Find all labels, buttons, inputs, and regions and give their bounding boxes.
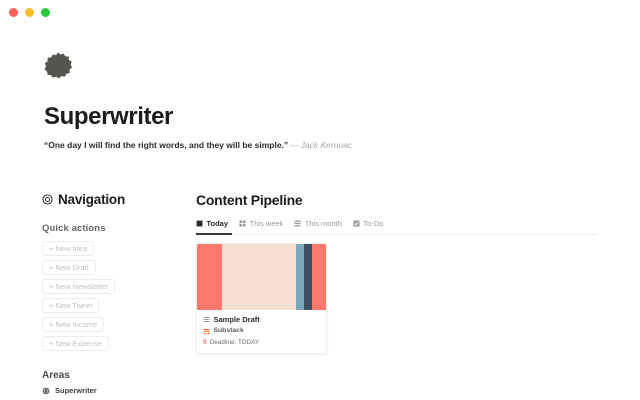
- tab-label: Today: [207, 220, 229, 228]
- card-source-row: Substack: [203, 328, 320, 335]
- tab-this-month[interactable]: This month: [294, 220, 342, 229]
- target-ring-icon: [42, 194, 53, 205]
- cover-band: [304, 244, 312, 310]
- quick-action-new-draft[interactable]: + New Draft: [42, 260, 96, 275]
- card-source: Substack: [214, 328, 244, 335]
- quick-action-new-income[interactable]: + New Income: [42, 317, 104, 332]
- card-body: Sample Draft Substack !! Deadline: TODAY: [197, 310, 326, 354]
- page-title: Superwriter: [44, 104, 352, 130]
- hero-quote: “One day I will find the right words, an…: [44, 140, 352, 150]
- document-icon: [203, 316, 210, 323]
- main-panel: Content Pipeline Today This week: [196, 192, 600, 354]
- cover-band: [296, 244, 304, 310]
- quote-dash: —: [288, 140, 301, 150]
- card-title-row: Sample Draft: [203, 316, 320, 324]
- tab-today[interactable]: Today: [196, 220, 228, 229]
- close-button[interactable]: [9, 8, 18, 17]
- app-window: Superwriter “One day I will find the rig…: [0, 0, 640, 400]
- card-deadline: Deadline: TODAY: [210, 340, 259, 346]
- tab-label: This week: [250, 220, 284, 228]
- sidebar-heading: Navigation: [42, 192, 192, 207]
- quick-action-new-idea[interactable]: + New Idea: [42, 241, 94, 256]
- tab-label: To-Do: [363, 220, 383, 228]
- window-controls: [9, 8, 50, 17]
- quote-text: “One day I will find the right words, an…: [44, 140, 288, 150]
- checkbox-icon: [353, 220, 360, 227]
- pipeline-tabs: Today This week: [196, 220, 597, 235]
- minimize-button[interactable]: [25, 8, 34, 17]
- tab-this-week[interactable]: This week: [239, 220, 283, 229]
- cover-band: [197, 244, 222, 310]
- starburst-icon: [44, 52, 72, 80]
- grid-2x2-icon: [239, 220, 246, 227]
- quick-action-new-tweet[interactable]: + New Tweet: [42, 298, 99, 313]
- cover-band: [312, 244, 326, 310]
- sidebar-item-label: Superwriter: [55, 387, 97, 395]
- pipeline-title: Content Pipeline: [196, 192, 600, 208]
- quote-author: Jack Kerouac: [301, 140, 353, 150]
- quick-actions-label: Quick actions: [42, 223, 192, 234]
- sidebar-item-superwriter[interactable]: Superwriter: [42, 387, 192, 395]
- substack-icon: [203, 328, 210, 335]
- filled-square-icon: [196, 220, 203, 227]
- quick-action-new-expense[interactable]: + New Expense: [42, 336, 109, 351]
- hero-section: Superwriter “One day I will find the rig…: [44, 52, 352, 151]
- window-titlebar: [0, 0, 640, 24]
- sidebar-heading-label: Navigation: [58, 192, 125, 207]
- tab-label: This month: [305, 220, 342, 228]
- content-columns: Navigation Quick actions + New Idea + Ne…: [0, 192, 640, 400]
- active-tab-underline: [196, 233, 232, 235]
- quick-action-new-newsletter[interactable]: + New Newsletter: [42, 279, 115, 294]
- urgent-marker: !!: [203, 340, 206, 346]
- card-title: Sample Draft: [214, 316, 260, 324]
- quick-actions-list: + New Idea + New Draft + New Newsletter …: [42, 241, 192, 351]
- grid-rows-icon: [294, 220, 301, 227]
- card-deadline-row: !! Deadline: TODAY: [203, 340, 320, 346]
- tab-to-do[interactable]: To-Do: [353, 220, 384, 229]
- cover-band: [222, 244, 297, 310]
- content-card[interactable]: Sample Draft Substack !! Deadline: TODAY: [196, 243, 327, 355]
- globe-icon: [42, 387, 50, 395]
- areas-label: Areas: [42, 370, 192, 381]
- sidebar: Navigation Quick actions + New Idea + Ne…: [42, 192, 192, 400]
- maximize-button[interactable]: [41, 8, 50, 17]
- areas-list: Superwriter All Content: [42, 387, 192, 400]
- card-cover-image: [197, 244, 326, 310]
